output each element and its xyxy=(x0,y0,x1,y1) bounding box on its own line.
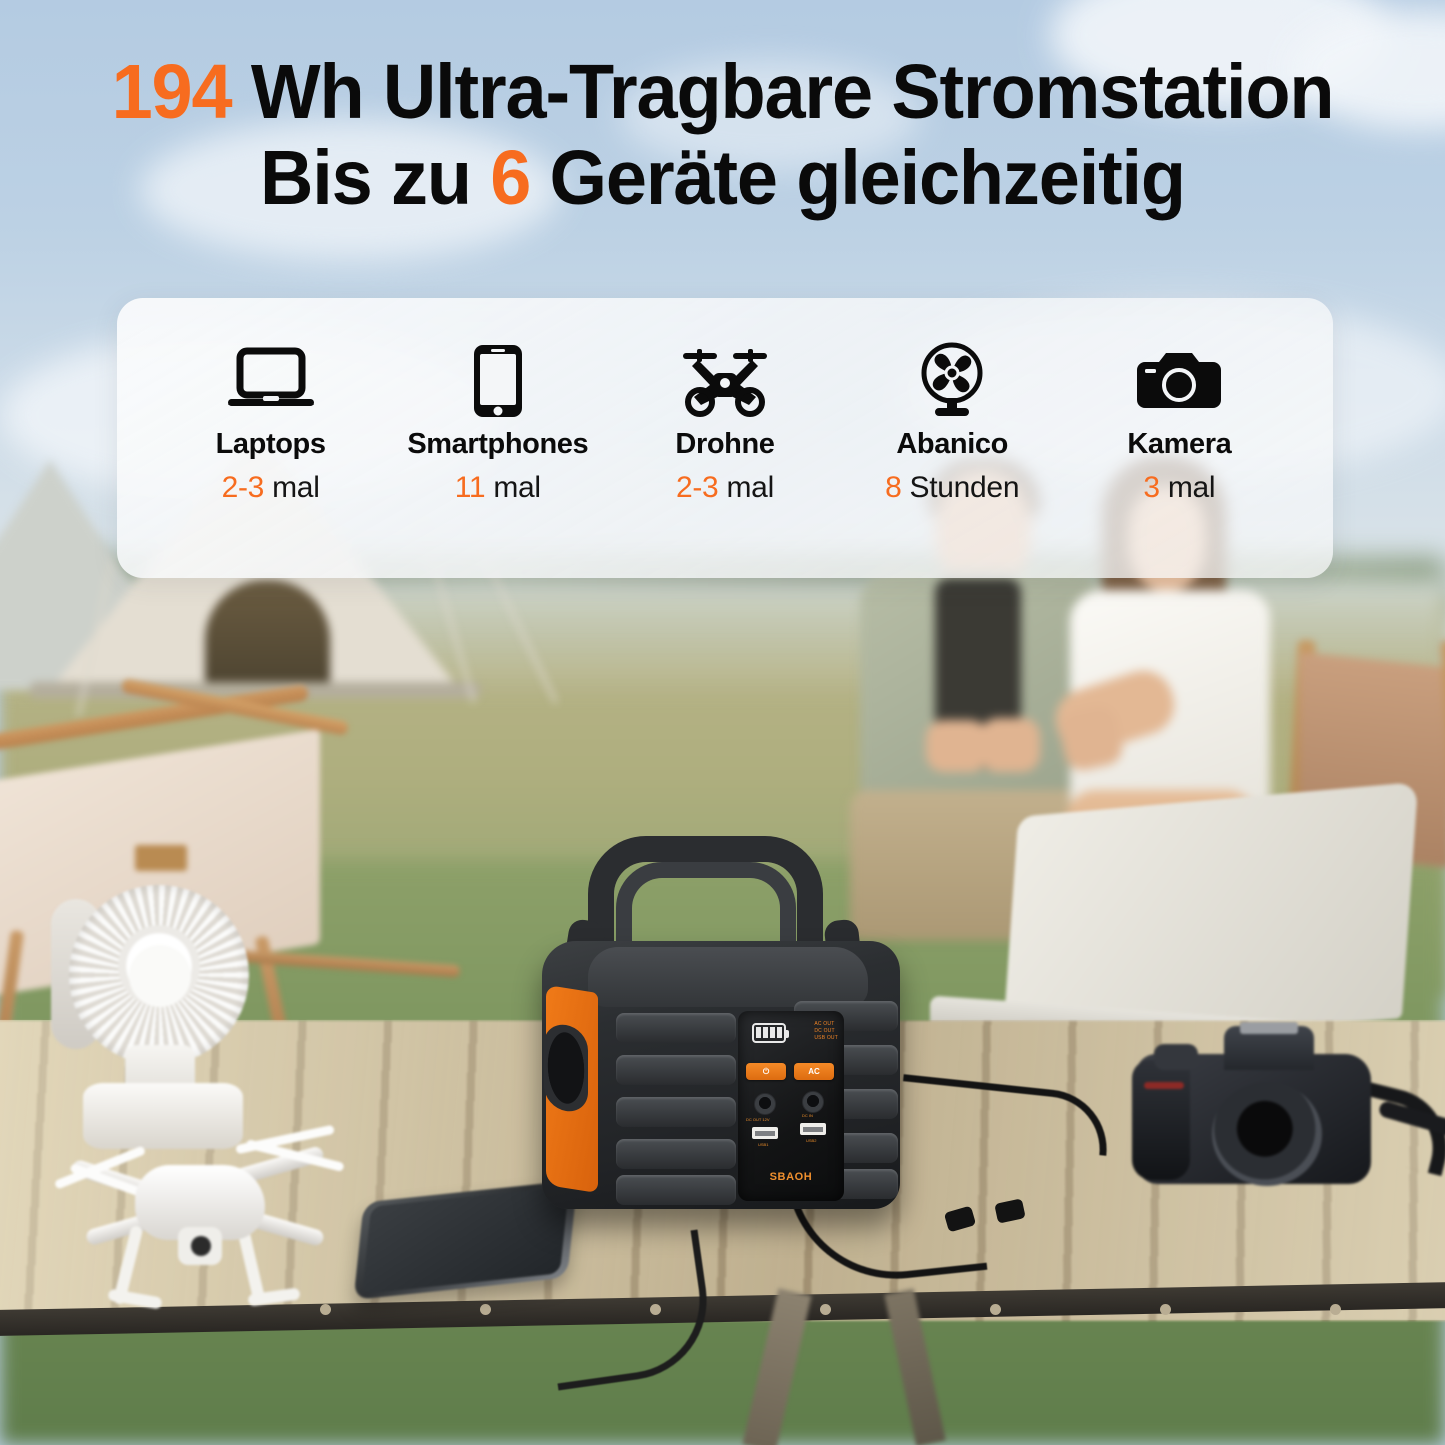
headline-line-2-pre: Bis zu xyxy=(260,135,490,221)
portable-power-station: AC OUT DC OUT USB OUT ⏻ AC DC OUT 12V DC… xyxy=(528,836,918,1216)
ac-button[interactable]: AC xyxy=(794,1063,834,1080)
capacity-item-label: Kamera xyxy=(1074,428,1284,461)
capacity-item-label: Laptops xyxy=(166,428,376,461)
capacity-value-number: 3 xyxy=(1143,471,1159,504)
fan-icon xyxy=(847,342,1057,420)
headline-line-2-post: Geräte gleichzeitig xyxy=(530,135,1185,221)
drone-device xyxy=(30,1105,360,1335)
capacity-item-fan: Abanico 8 Stunden xyxy=(847,342,1057,505)
capacity-value-number: 2-3 xyxy=(222,471,264,504)
headline-line-1-rest: Wh Ultra-Tragbare Stromstation xyxy=(231,49,1333,135)
headline-accent-194: 194 xyxy=(112,49,232,135)
capacity-item-value: 3 mal xyxy=(1074,471,1284,505)
device-capacity-card: Laptops 2-3 mal Smartphones 11 mal xyxy=(117,298,1333,578)
capacity-item-label: Smartphones xyxy=(393,428,603,461)
usb-port-2[interactable] xyxy=(800,1123,826,1135)
dc-input-label: DC IN xyxy=(802,1113,813,1118)
capacity-item-laptops: Laptops 2-3 mal xyxy=(166,342,376,505)
power-button[interactable]: ⏻ xyxy=(746,1063,786,1080)
battery-indicator-icon xyxy=(752,1023,786,1043)
drone-icon xyxy=(620,342,830,420)
headline-line-1: 194 Wh Ultra-Tragbare Stromstation xyxy=(112,49,1334,135)
capacity-item-smartphones: Smartphones 11 mal xyxy=(393,342,603,505)
capacity-value-number: 11 xyxy=(455,471,486,504)
brand-logo: SBAOH xyxy=(738,1171,844,1183)
capacity-item-value: 2-3 mal xyxy=(166,471,376,505)
dc-output-label: DC OUT 12V xyxy=(746,1117,770,1122)
capacity-value-number: 8 xyxy=(885,471,901,504)
laptop-icon xyxy=(166,342,376,420)
capacity-value-unit: mal xyxy=(264,471,319,504)
capacity-item-label: Drohne xyxy=(620,428,830,461)
camera-icon xyxy=(1074,342,1284,420)
usb-port-1[interactable] xyxy=(752,1127,778,1139)
output-labels: AC OUT DC OUT USB OUT xyxy=(814,1021,838,1042)
dc-output-port[interactable] xyxy=(754,1093,776,1115)
capacity-value-unit: mal xyxy=(718,471,773,504)
capacity-item-camera: Kamera 3 mal xyxy=(1074,342,1284,505)
usb-label-1: USB1 xyxy=(758,1142,768,1147)
capacity-item-value: 8 Stunden xyxy=(847,471,1057,505)
cooling-fins-left xyxy=(616,1013,736,1203)
ac-socket xyxy=(544,1022,588,1115)
smartphone-icon xyxy=(393,342,603,420)
usb-label-2: USB2 xyxy=(806,1138,816,1143)
capacity-item-value: 2-3 mal xyxy=(620,471,830,505)
capacity-item-value: 11 mal xyxy=(393,471,603,505)
product-marketing-image: AC OUT DC OUT USB OUT ⏻ AC DC OUT 12V DC… xyxy=(0,0,1445,1445)
headline-line-2: Bis zu 6 Geräte gleichzeitig xyxy=(29,138,1416,220)
dslr-camera-device xyxy=(1128,1020,1438,1205)
capacity-item-label: Abanico xyxy=(847,428,1057,461)
capacity-item-drone: Drohne 2-3 mal xyxy=(620,342,830,505)
headline-accent-6: 6 xyxy=(490,135,530,221)
capacity-value-unit: mal xyxy=(1160,471,1215,504)
dc-input-port[interactable] xyxy=(802,1091,824,1113)
page-title: 194 Wh Ultra-Tragbare Stromstation Bis z… xyxy=(29,52,1416,219)
capacity-value-number: 2-3 xyxy=(676,471,718,504)
capacity-value-unit: Stunden xyxy=(902,471,1020,504)
control-panel[interactable]: AC OUT DC OUT USB OUT ⏻ AC DC OUT 12V DC… xyxy=(738,1011,844,1201)
capacity-value-unit: mal xyxy=(485,471,540,504)
